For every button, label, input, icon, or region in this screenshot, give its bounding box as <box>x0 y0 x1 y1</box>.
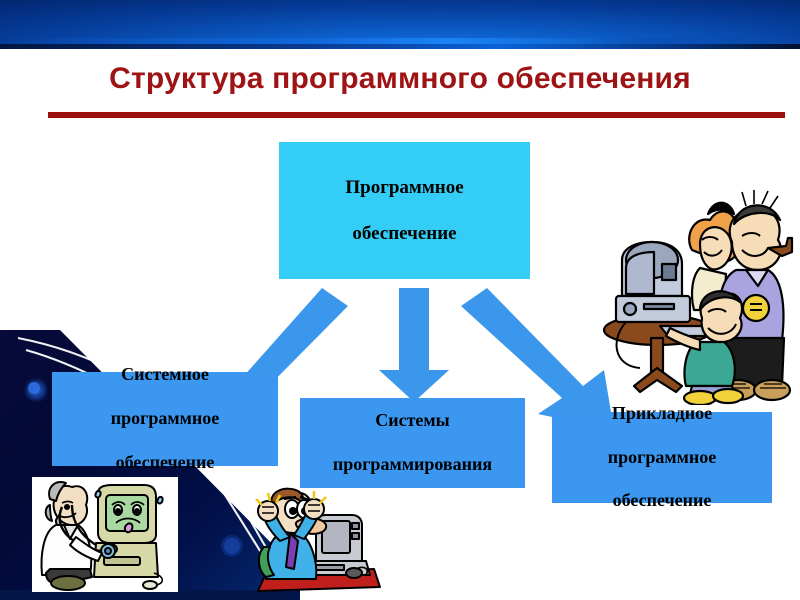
slide-title: Структура программного обеспечения <box>0 62 800 96</box>
diagram-box-system-software[interactable]: Системноепрограммноеобеспечение <box>52 372 278 466</box>
banner-bottom-strip <box>0 44 800 49</box>
doctor-sick-computer-clipart <box>32 477 178 592</box>
diagram-box-application-software-label: Прикладноепрограммноеобеспечение <box>592 403 732 513</box>
family-at-computer-clipart <box>596 190 796 405</box>
angry-user-clipart <box>252 485 382 600</box>
title-underline-rule <box>48 112 785 118</box>
diagram-box-programming-systems[interactable]: Системыпрограммирования <box>300 398 525 488</box>
diagram-box-system-software-label: Системноепрограммноеобеспечение <box>95 364 235 474</box>
diagram-box-root[interactable]: Программноеобеспечение <box>279 142 530 279</box>
arrow-down <box>379 288 449 402</box>
diagram-box-application-software[interactable]: Прикладноепрограммноеобеспечение <box>552 412 772 503</box>
diagram-box-programming-systems-label: Системыпрограммирования <box>317 410 508 476</box>
slide-canvas: Структура программного обеспечения <box>0 0 800 600</box>
diagram-box-root-label: Программноеобеспечение <box>329 176 479 246</box>
